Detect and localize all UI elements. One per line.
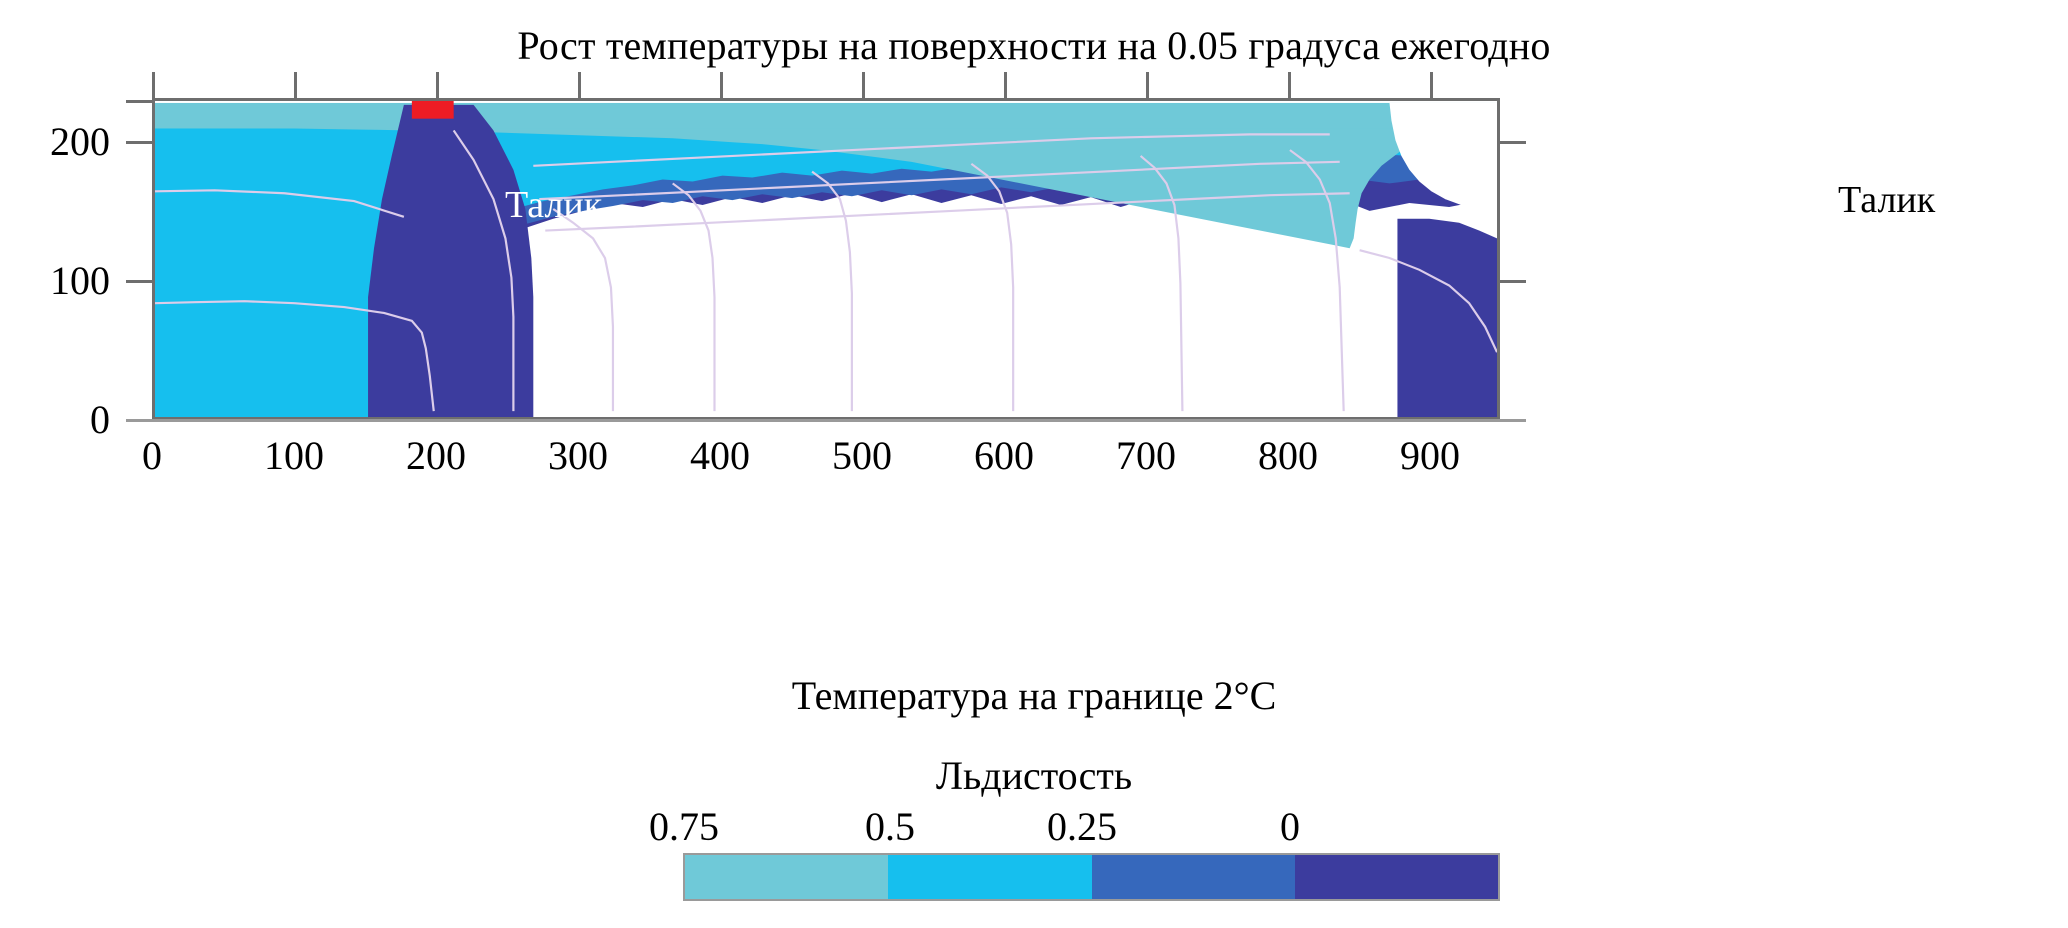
xtick-top-100 (294, 72, 297, 98)
colorbar-tick-0.5: 0.5 (830, 803, 950, 850)
x-axis-title: Температура на границе 2°С (0, 672, 2068, 719)
contour-label-text: 210 (846, 239, 897, 302)
x-axis-baseline (126, 419, 1526, 422)
colorbar: Льдистость 0.75 0.5 0.25 0 (0, 752, 2068, 893)
colorbar-title: Льдистость (0, 752, 2068, 799)
contour-label-205: 205 (1068, 239, 1120, 302)
talik-label-left: Талик (505, 183, 602, 227)
ytick-mark-100 (126, 280, 152, 283)
colorbar-tick-0.25: 0.25 (1022, 803, 1142, 850)
page-title: Рост температуры на поверхности на 0.05 … (0, 22, 2068, 69)
ytick-label-200: 200 (0, 118, 110, 165)
xtick-label-500: 500 (802, 432, 922, 479)
xtick-top-600 (1004, 72, 1007, 98)
colorbar-tick-0: 0 (1230, 803, 1350, 850)
colorbar-swatch-0 (685, 855, 888, 899)
contour-label-text: 190 (1706, 236, 1764, 303)
contour-label-200: 200 (1283, 239, 1335, 302)
colorbar-gradient (683, 853, 1500, 901)
talik-label-right: Талик (1838, 178, 1935, 222)
xtick-label-100: 100 (234, 432, 354, 479)
xtick-label-200: 200 (376, 432, 496, 479)
contour-label-text: 205 (1069, 239, 1119, 301)
right-dark-body (1397, 219, 1497, 417)
xtick-label-400: 400 (660, 432, 780, 479)
xtick-top-800 (1288, 72, 1291, 98)
xtick-label-700: 700 (1086, 432, 1206, 479)
ytick-mark-232 (126, 100, 152, 103)
xtick-top-400 (720, 72, 723, 98)
contour-label-text: 200 (1284, 239, 1334, 301)
xtick-label-800: 800 (1228, 432, 1348, 479)
ytick-mark-200 (126, 141, 152, 144)
xtick-top-700 (1146, 72, 1149, 98)
xtick-label-900: 900 (1370, 432, 1490, 479)
heat-source-marker (412, 101, 454, 119)
xtick-label-300: 300 (518, 432, 638, 479)
colorbar-swatch-1 (888, 855, 1091, 899)
ytick-mark-right-100 (1500, 280, 1526, 283)
xtick-top-0 (152, 72, 155, 98)
ice-surface-strip (155, 103, 1497, 129)
contour-label-text: 195 (1501, 236, 1552, 299)
xtick-top-300 (578, 72, 581, 98)
contour-label-195: 195 (1500, 236, 1553, 300)
contour-label-190: 190 (1705, 236, 1764, 304)
xtick-top-200 (436, 72, 439, 98)
xtick-label-0: 0 (92, 432, 212, 479)
xtick-label-600: 600 (944, 432, 1064, 479)
colorbar-swatch-2 (1092, 855, 1295, 899)
colorbar-swatch-3 (1295, 855, 1498, 899)
colorbar-tick-0.75: 0.75 (624, 803, 744, 850)
colorbar-tick-labels: 0.75 0.5 0.25 0 (0, 803, 2068, 847)
xtick-top-900 (1430, 72, 1433, 98)
ytick-label-100: 100 (0, 257, 110, 304)
ytick-mark-right-200 (1500, 141, 1526, 144)
xtick-top-500 (862, 72, 865, 98)
